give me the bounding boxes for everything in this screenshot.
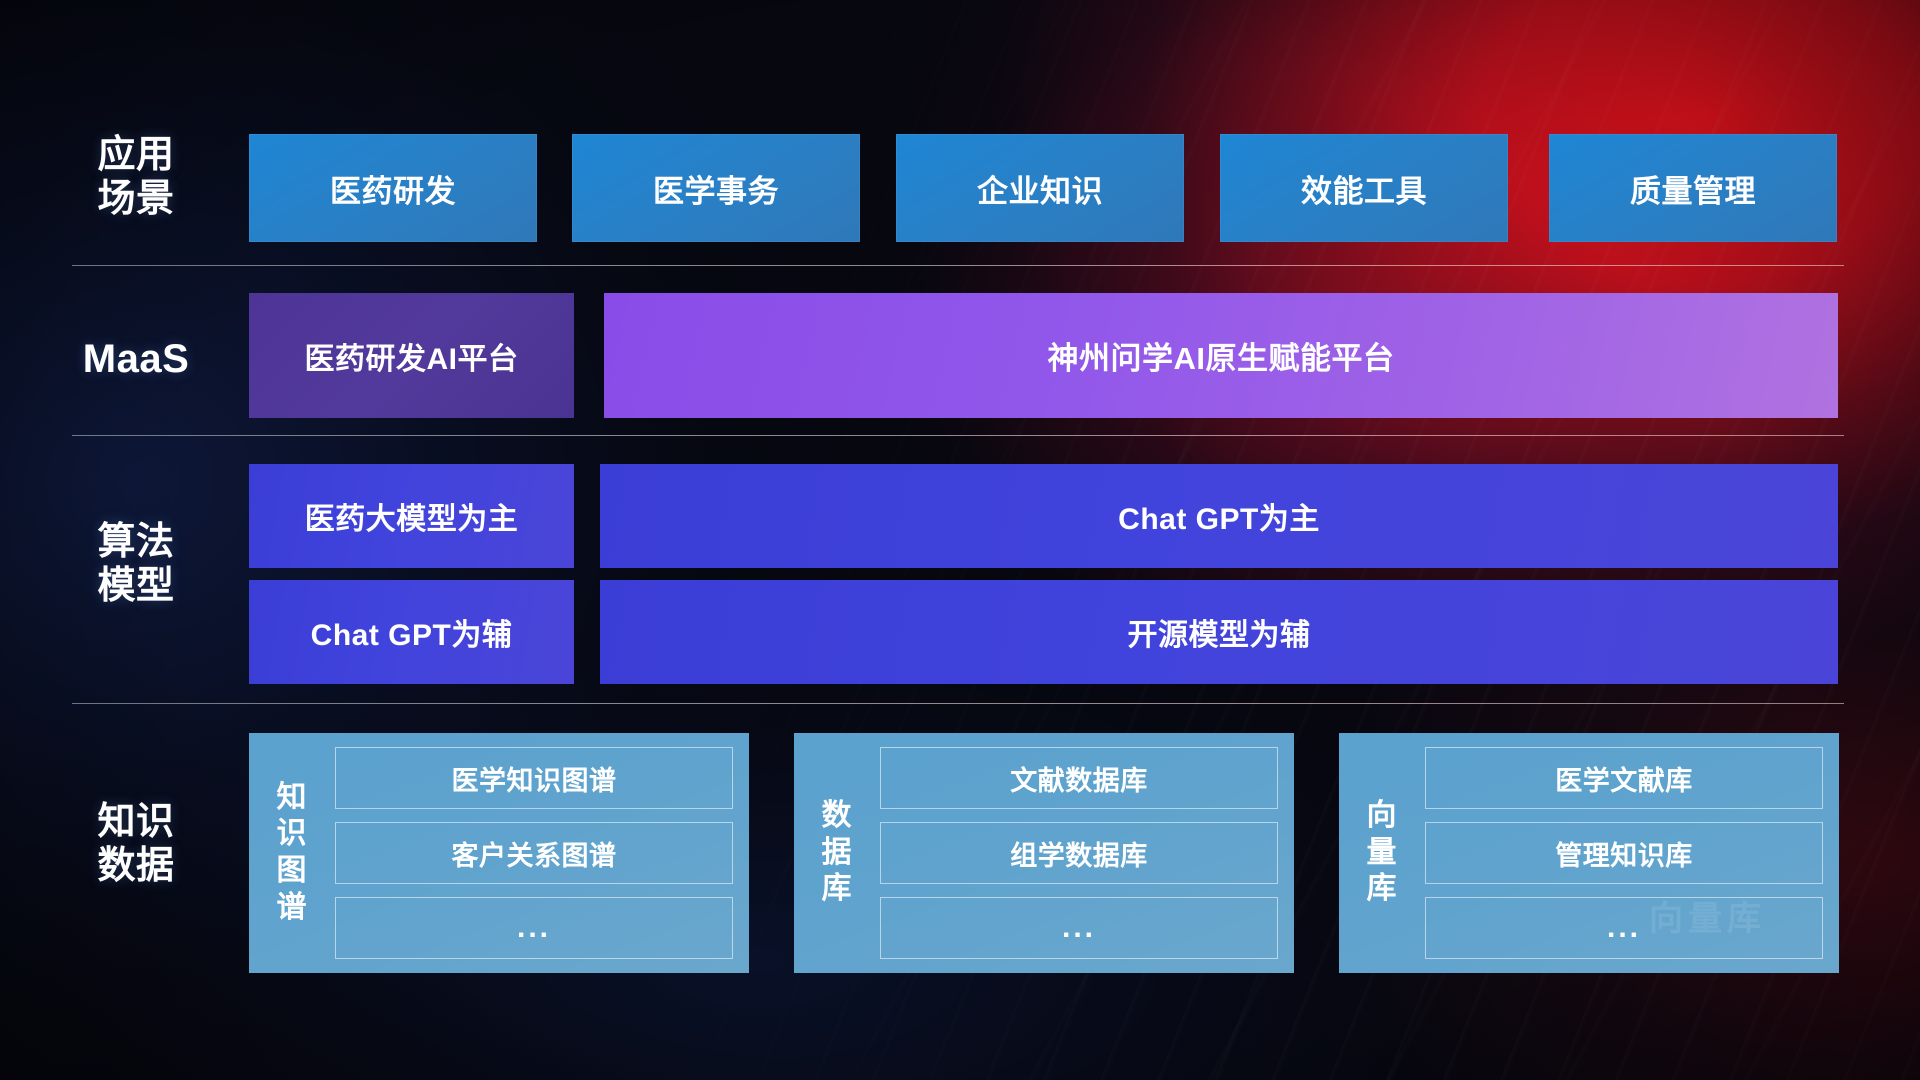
knowledge-panel-knowledge-graph[interactable]: 知 识 图 谱 医学知识图谱 客户关系图谱 ...: [249, 733, 749, 973]
knowledge-item-more[interactable]: ...: [1425, 897, 1823, 959]
knowledge-panel-database[interactable]: 数 据 库 文献数据库 组学数据库 ...: [794, 733, 1294, 973]
maas-box-pharma-ai-platform[interactable]: 医药研发AI平台: [249, 293, 574, 418]
knowledge-panel-title-vector-store: 向 量 库: [1353, 798, 1411, 908]
app-scenario-box-3[interactable]: 企业知识: [896, 134, 1184, 242]
row-label-knowledge-data: 知识 数据: [72, 800, 200, 888]
knowledge-panel-title-database: 数 据 库: [808, 798, 866, 908]
divider-after-maas: [72, 435, 1844, 436]
algo-box-chatgpt-primary[interactable]: Chat GPT为主: [600, 464, 1838, 568]
knowledge-panel-vector-store[interactable]: 向 量 库 医学文献库 管理知识库 ... 向量库: [1339, 733, 1839, 973]
knowledge-item[interactable]: 组学数据库: [880, 822, 1278, 884]
row-label-application-scenario: 应用 场景: [72, 133, 200, 221]
knowledge-item-list-knowledge-graph: 医学知识图谱 客户关系图谱 ...: [335, 747, 733, 959]
app-scenario-box-4[interactable]: 效能工具: [1220, 134, 1508, 242]
app-scenario-box-5[interactable]: 质量管理: [1549, 134, 1837, 242]
row-label-algorithm-model: 算法 模型: [72, 520, 200, 608]
knowledge-item-more[interactable]: ...: [880, 897, 1278, 959]
app-scenario-box-2[interactable]: 医学事务: [572, 134, 860, 242]
knowledge-item-list-database: 文献数据库 组学数据库 ...: [880, 747, 1278, 959]
knowledge-item[interactable]: 医学知识图谱: [335, 747, 733, 809]
divider-after-algorithm-model: [72, 703, 1844, 704]
algo-box-pharma-llm-primary[interactable]: 医药大模型为主: [249, 464, 574, 568]
app-scenario-box-1[interactable]: 医药研发: [249, 134, 537, 242]
knowledge-item[interactable]: 文献数据库: [880, 747, 1278, 809]
knowledge-panel-title-knowledge-graph: 知 识 图 谱: [263, 780, 321, 926]
knowledge-item[interactable]: 医学文献库: [1425, 747, 1823, 809]
algo-box-chatgpt-secondary[interactable]: Chat GPT为辅: [249, 580, 574, 684]
row-label-maas: MaaS: [72, 336, 200, 382]
architecture-diagram: 应用 场景 医药研发 医学事务 企业知识 效能工具 质量管理 MaaS 医药研发…: [0, 0, 1920, 1080]
knowledge-item[interactable]: 管理知识库: [1425, 822, 1823, 884]
knowledge-item-list-vector-store: 医学文献库 管理知识库 ...: [1425, 747, 1823, 959]
divider-after-application-scenario: [72, 265, 1844, 266]
knowledge-item[interactable]: 客户关系图谱: [335, 822, 733, 884]
algo-box-opensource-secondary[interactable]: 开源模型为辅: [600, 580, 1838, 684]
maas-box-shenzhou-wenxue-platform[interactable]: 神州问学AI原生赋能平台: [604, 293, 1838, 418]
knowledge-item-more[interactable]: ...: [335, 897, 733, 959]
